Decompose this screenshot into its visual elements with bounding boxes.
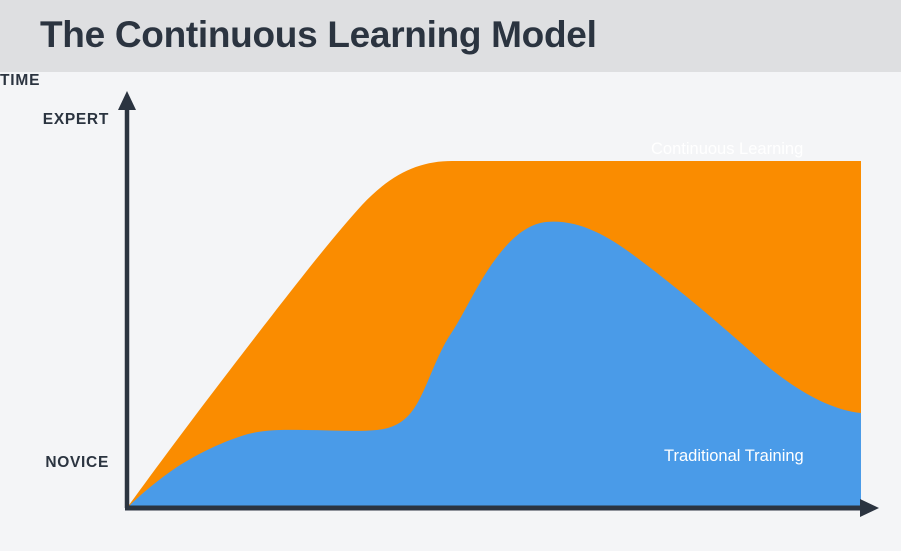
- series-label-continuous-learning: Continuous Learning: [651, 140, 803, 159]
- chart-figure: The Continuous Learning Model EXPERT NOV…: [0, 0, 901, 551]
- plot-area: EXPERT NOVICE TIME Continuous Learning T…: [0, 72, 901, 551]
- y-axis-label-novice: NOVICE: [45, 454, 109, 472]
- series-label-traditional-training: Traditional Training: [664, 447, 804, 466]
- page-title: The Continuous Learning Model: [40, 9, 597, 61]
- arrow-up-icon: [118, 91, 136, 110]
- arrow-right-icon: [860, 499, 879, 517]
- y-axis-label-expert: EXPERT: [43, 111, 109, 129]
